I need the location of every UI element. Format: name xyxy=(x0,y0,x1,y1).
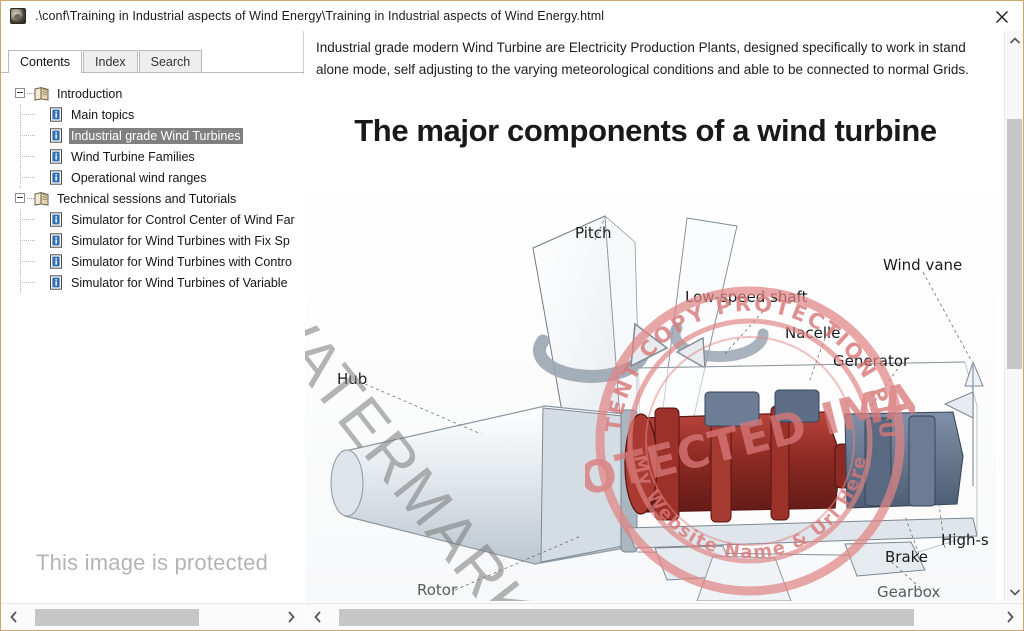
page-info-icon xyxy=(49,233,63,248)
page-info-icon xyxy=(49,128,63,143)
tree-item-simulator-variable[interactable]: Simulator for Wind Turbines of Variable xyxy=(1,272,304,293)
tree-guide-line xyxy=(20,261,35,262)
content-hscrollbar[interactable] xyxy=(305,603,1023,630)
diagram-label-nacelle: Nacelle xyxy=(785,324,840,342)
content-pane: Industrial grade modern Wind Turbine are… xyxy=(305,31,1023,630)
tree-item-label: Operational wind ranges xyxy=(69,170,209,186)
intro-paragraph: Industrial grade modern Wind Turbine are… xyxy=(316,37,988,81)
scroll-right-icon[interactable] xyxy=(278,604,304,630)
content-vscroll-thumb[interactable] xyxy=(1007,119,1022,369)
tree-item-simulator-fix-speed[interactable]: Simulator for Wind Turbines with Fix Sp xyxy=(1,230,304,251)
split-container: Contents Index Search xyxy=(1,31,1023,630)
left-pane-hscroll-thumb[interactable] xyxy=(35,609,199,626)
tree-item-operational-wind-ranges[interactable]: Operational wind ranges xyxy=(1,167,304,188)
tree-item-label: Simulator for Wind Turbines with Contro xyxy=(69,254,294,270)
tree-guide-line xyxy=(20,240,35,241)
diagram-label-gearbox: Gearbox xyxy=(877,583,940,601)
content-vscrollbar[interactable] xyxy=(1004,31,1023,601)
navigation-pane: Contents Index Search xyxy=(1,31,304,630)
turbine-illustration xyxy=(305,156,996,601)
page-info-icon xyxy=(49,149,63,164)
page-info-icon xyxy=(49,254,63,269)
tree-guide-line xyxy=(20,135,35,136)
tree-item-simulator-control-center[interactable]: Simulator for Control Center of Wind Far xyxy=(1,209,304,230)
diagram-label-generator: Generator xyxy=(833,352,909,370)
tab-index-label: Index xyxy=(95,55,126,69)
collapse-expander-icon[interactable] xyxy=(15,193,25,203)
tab-search-label: Search xyxy=(151,55,191,69)
tree-item-label: Main topics xyxy=(69,107,136,123)
scroll-left-icon[interactable] xyxy=(1,604,27,630)
tree-item-industrial-grade-wind-turbines[interactable]: Industrial grade Wind Turbines xyxy=(1,125,304,146)
tab-index[interactable]: Index xyxy=(83,50,138,72)
tree-item-label: Simulator for Control Center of Wind Far xyxy=(69,212,297,228)
diagram-heading: The major components of a wind turbine xyxy=(305,113,986,149)
tab-contents-label: Contents xyxy=(20,55,70,69)
help-viewer-window: .\conf\Training in Industrial aspects of… xyxy=(0,0,1024,631)
page-info-icon xyxy=(49,107,63,122)
diagram-label-pitch: Pitch xyxy=(575,224,612,242)
tree-item-simulator-controlled[interactable]: Simulator for Wind Turbines with Contro xyxy=(1,251,304,272)
left-pane-hscrollbar[interactable] xyxy=(1,603,304,630)
tree-guide-line xyxy=(20,282,35,283)
tab-search[interactable]: Search xyxy=(139,50,203,72)
tree-item-technical-sessions-and-tutorials[interactable]: Technical sessions and Tutorials xyxy=(1,188,304,209)
nav-tabstrip: Contents Index Search xyxy=(1,51,304,73)
tree-item-label: Technical sessions and Tutorials xyxy=(55,191,238,207)
tab-contents[interactable]: Contents xyxy=(8,50,82,72)
tree-guide-line xyxy=(20,114,35,115)
tree-guide-line xyxy=(20,177,35,178)
tree-guide-line xyxy=(20,219,35,220)
tree-item-label: Introduction xyxy=(55,86,124,102)
document-view: Industrial grade modern Wind Turbine are… xyxy=(305,31,996,601)
tree-item-label: Simulator for Wind Turbines of Variable xyxy=(69,275,290,291)
tree-guide-line xyxy=(20,156,35,157)
diagram-label-rotor: Rotor xyxy=(417,581,457,599)
diagram-label-wind-vane: Wind vane xyxy=(883,256,962,274)
page-info-icon xyxy=(49,212,63,227)
contents-tree[interactable]: Introduction Main topics xyxy=(1,74,304,608)
title-bar: .\conf\Training in Industrial aspects of… xyxy=(1,1,1023,31)
diagram-label-low-speed-shaft: Low-speed shaft xyxy=(685,288,807,306)
diagram-label-brake: Brake xyxy=(885,548,928,566)
scroll-left-icon[interactable] xyxy=(305,604,331,630)
scroll-right-icon[interactable] xyxy=(997,604,1023,630)
tree-item-wind-turbine-families[interactable]: Wind Turbine Families xyxy=(1,146,304,167)
page-info-icon xyxy=(49,170,63,185)
wind-turbine-diagram: Pitch Wind vane Low-speed shaft Nacelle … xyxy=(305,156,996,601)
content-hscroll-thumb[interactable] xyxy=(339,609,914,626)
diagram-label-hub: Hub xyxy=(337,370,367,388)
scroll-up-icon[interactable] xyxy=(1005,31,1023,50)
tree-item-main-topics[interactable]: Main topics xyxy=(1,104,304,125)
tree-item-introduction[interactable]: Introduction xyxy=(1,83,304,104)
page-info-icon xyxy=(49,275,63,290)
close-icon[interactable] xyxy=(991,7,1013,27)
tree-item-label: Simulator for Wind Turbines with Fix Sp xyxy=(69,233,292,249)
diagram-label-high-speed-shaft: High-s xyxy=(941,531,989,549)
tree-item-label: Industrial grade Wind Turbines xyxy=(69,128,243,144)
collapse-expander-icon[interactable] xyxy=(15,88,25,98)
book-icon xyxy=(34,86,50,101)
app-icon xyxy=(10,8,26,24)
tree-item-label: Wind Turbine Families xyxy=(69,149,197,165)
scroll-down-icon[interactable] xyxy=(1005,582,1023,601)
book-icon xyxy=(34,191,50,206)
window-title: .\conf\Training in Industrial aspects of… xyxy=(35,9,604,23)
